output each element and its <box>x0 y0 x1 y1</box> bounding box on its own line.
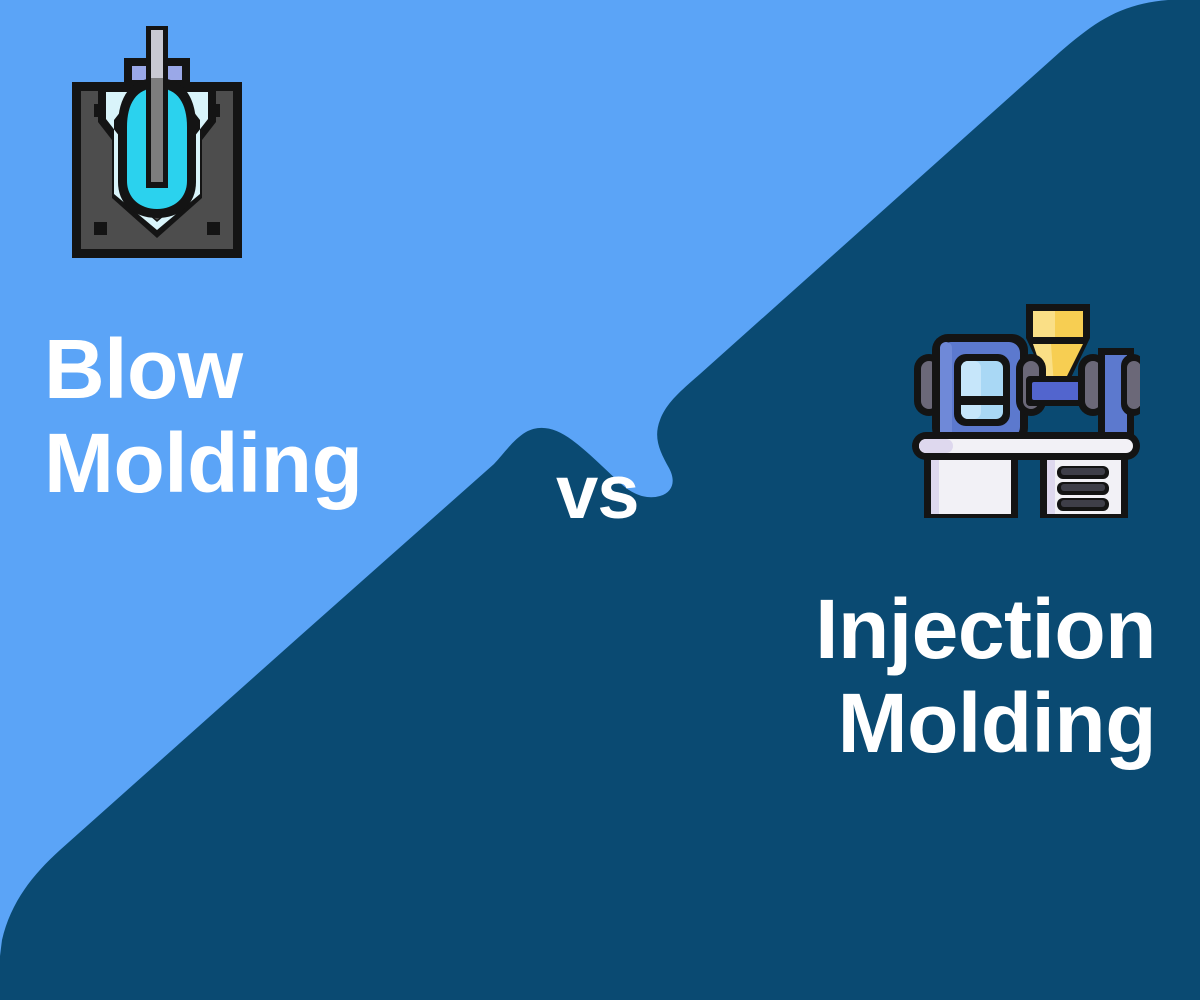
shaft-fill <box>151 78 163 182</box>
bench-cabinet-right <box>1040 456 1128 518</box>
shoulder-accent-left <box>132 66 146 80</box>
versus-banner: Blow Molding vs Injection Molding <box>0 0 1200 1000</box>
molded-part-3-top <box>1061 500 1105 507</box>
hopper-box-highlight <box>1033 311 1055 337</box>
bench-cabinet-left <box>924 456 1018 518</box>
cabinet-left-shadow <box>931 460 939 514</box>
injection-molding-machine-icon <box>908 292 1140 520</box>
molded-part-1-top <box>1061 468 1105 475</box>
bench-top-shadow <box>919 439 953 453</box>
bench-top <box>912 432 1140 460</box>
blow-pin-shaft <box>146 78 168 188</box>
mold-bolt-br <box>207 222 220 235</box>
cabinet-left-fill <box>931 460 1011 514</box>
drive-cap-fill <box>1127 361 1140 409</box>
right-panel-title: Injection Molding <box>815 582 1156 770</box>
clamp-window-divider <box>954 396 1010 405</box>
left-panel-title: Blow Molding <box>44 322 362 510</box>
blow-molding-mold-icon <box>62 22 252 262</box>
barrel-fill <box>1032 382 1086 400</box>
clamp-body-highlight <box>940 342 952 438</box>
clamp-window-highlight <box>961 361 981 419</box>
clamp-unit <box>932 334 1028 444</box>
molded-part-2-top <box>1061 484 1105 491</box>
shoulder-accent-right <box>168 66 182 80</box>
mold-bolt-bl <box>94 222 107 235</box>
vs-divider-label: vs <box>556 455 639 531</box>
cabinet-right-shadow <box>1047 460 1055 514</box>
